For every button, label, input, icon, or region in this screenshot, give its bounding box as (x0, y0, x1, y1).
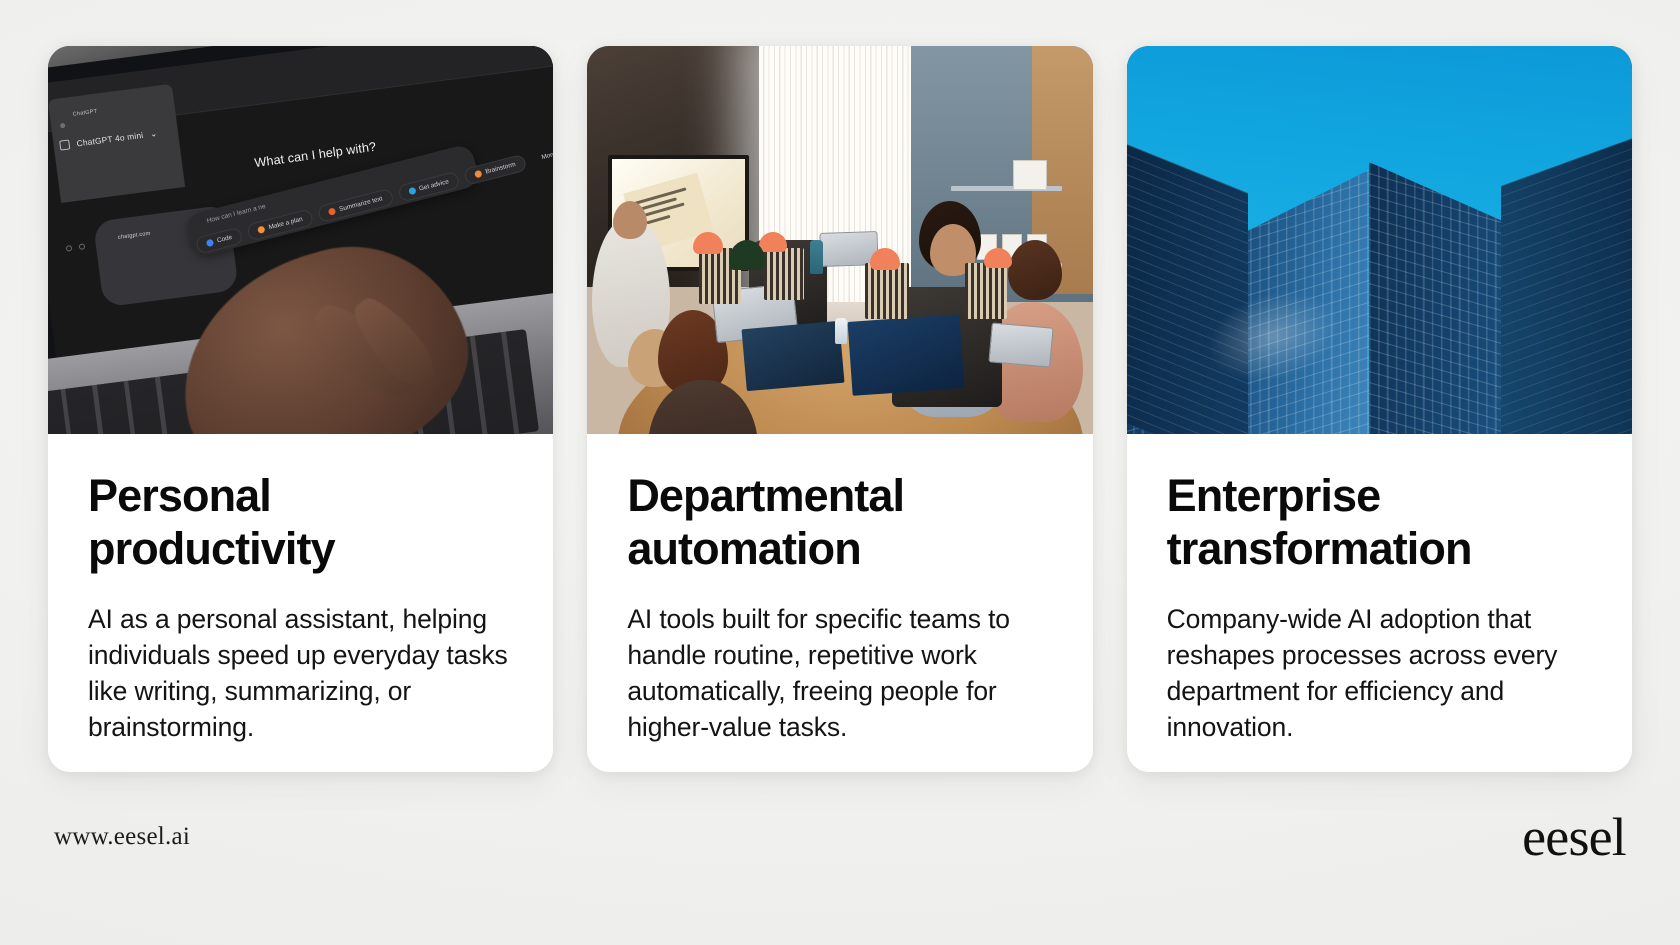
water-bottle (810, 240, 823, 274)
laptop-chatgpt-illustration: ChatGPT chatgpt.com ChatGPT 4o mini ⌄ Wh… (48, 46, 553, 434)
presenter-head (613, 201, 647, 239)
chip-label: Get advice (418, 178, 449, 192)
water-bottle (835, 318, 847, 344)
plan-icon (257, 225, 266, 234)
chevron-down-icon: ⌄ (149, 129, 157, 140)
chip-label: Make a plan (267, 216, 302, 231)
card-title: Departmental automation (627, 470, 1052, 575)
paper-bag (764, 248, 804, 300)
card-departmental-automation[interactable]: Departmental automation AI tools built f… (587, 46, 1092, 772)
card-body-departmental-automation: Departmental automation AI tools built f… (587, 434, 1092, 772)
card-body-personal-productivity: Personal productivity AI as a personal a… (48, 434, 553, 772)
advice-icon (407, 187, 416, 196)
footer-website-url[interactable]: www.eesel.ai (54, 823, 190, 851)
paper-bag (865, 263, 909, 319)
chip-label: Brainstorm (484, 161, 516, 175)
laptop-screen (741, 321, 844, 391)
card-title: Enterprise transformation (1167, 470, 1592, 575)
card-title: Personal productivity (88, 470, 513, 575)
code-icon (205, 239, 214, 248)
new-chat-icon (59, 140, 70, 151)
brainstorm-icon (474, 170, 483, 179)
laptop (989, 323, 1054, 368)
card-description: AI tools built for specific teams to han… (627, 601, 1052, 745)
card-enterprise-transformation[interactable]: Enterprise transformation Company-wide A… (1127, 46, 1632, 772)
card-image-enterprise-transformation (1127, 46, 1632, 434)
laptop-screen (848, 314, 965, 396)
footer: www.eesel.ai eesel (0, 773, 1680, 945)
card-image-departmental-automation (587, 46, 1092, 434)
chip-more[interactable]: More (529, 143, 553, 168)
skyscraper-right-face (1501, 123, 1632, 434)
card-body-enterprise-transformation: Enterprise transformation Company-wide A… (1127, 434, 1632, 772)
card-personal-productivity[interactable]: ChatGPT chatgpt.com ChatGPT 4o mini ⌄ Wh… (48, 46, 553, 772)
card-image-personal-productivity: ChatGPT chatgpt.com ChatGPT 4o mini ⌄ Wh… (48, 46, 553, 434)
card-grid: ChatGPT chatgpt.com ChatGPT 4o mini ⌄ Wh… (48, 46, 1632, 772)
chip-label: Code (216, 234, 233, 245)
back-arrow-icon (65, 245, 72, 252)
summarize-icon (327, 207, 336, 216)
skyscrapers-illustration (1127, 46, 1632, 434)
office-meeting-illustration (587, 46, 1092, 434)
chip-label: More (540, 151, 553, 161)
eesel-logo: eesel (1522, 810, 1626, 864)
reload-icon (79, 244, 86, 251)
bag-tissue (759, 232, 787, 252)
card-description: Company-wide AI adoption that reshapes p… (1167, 601, 1592, 745)
paper-bag (965, 263, 1007, 319)
card-description: AI as a personal assistant, helping indi… (88, 601, 513, 745)
framed-picture (1013, 160, 1047, 190)
